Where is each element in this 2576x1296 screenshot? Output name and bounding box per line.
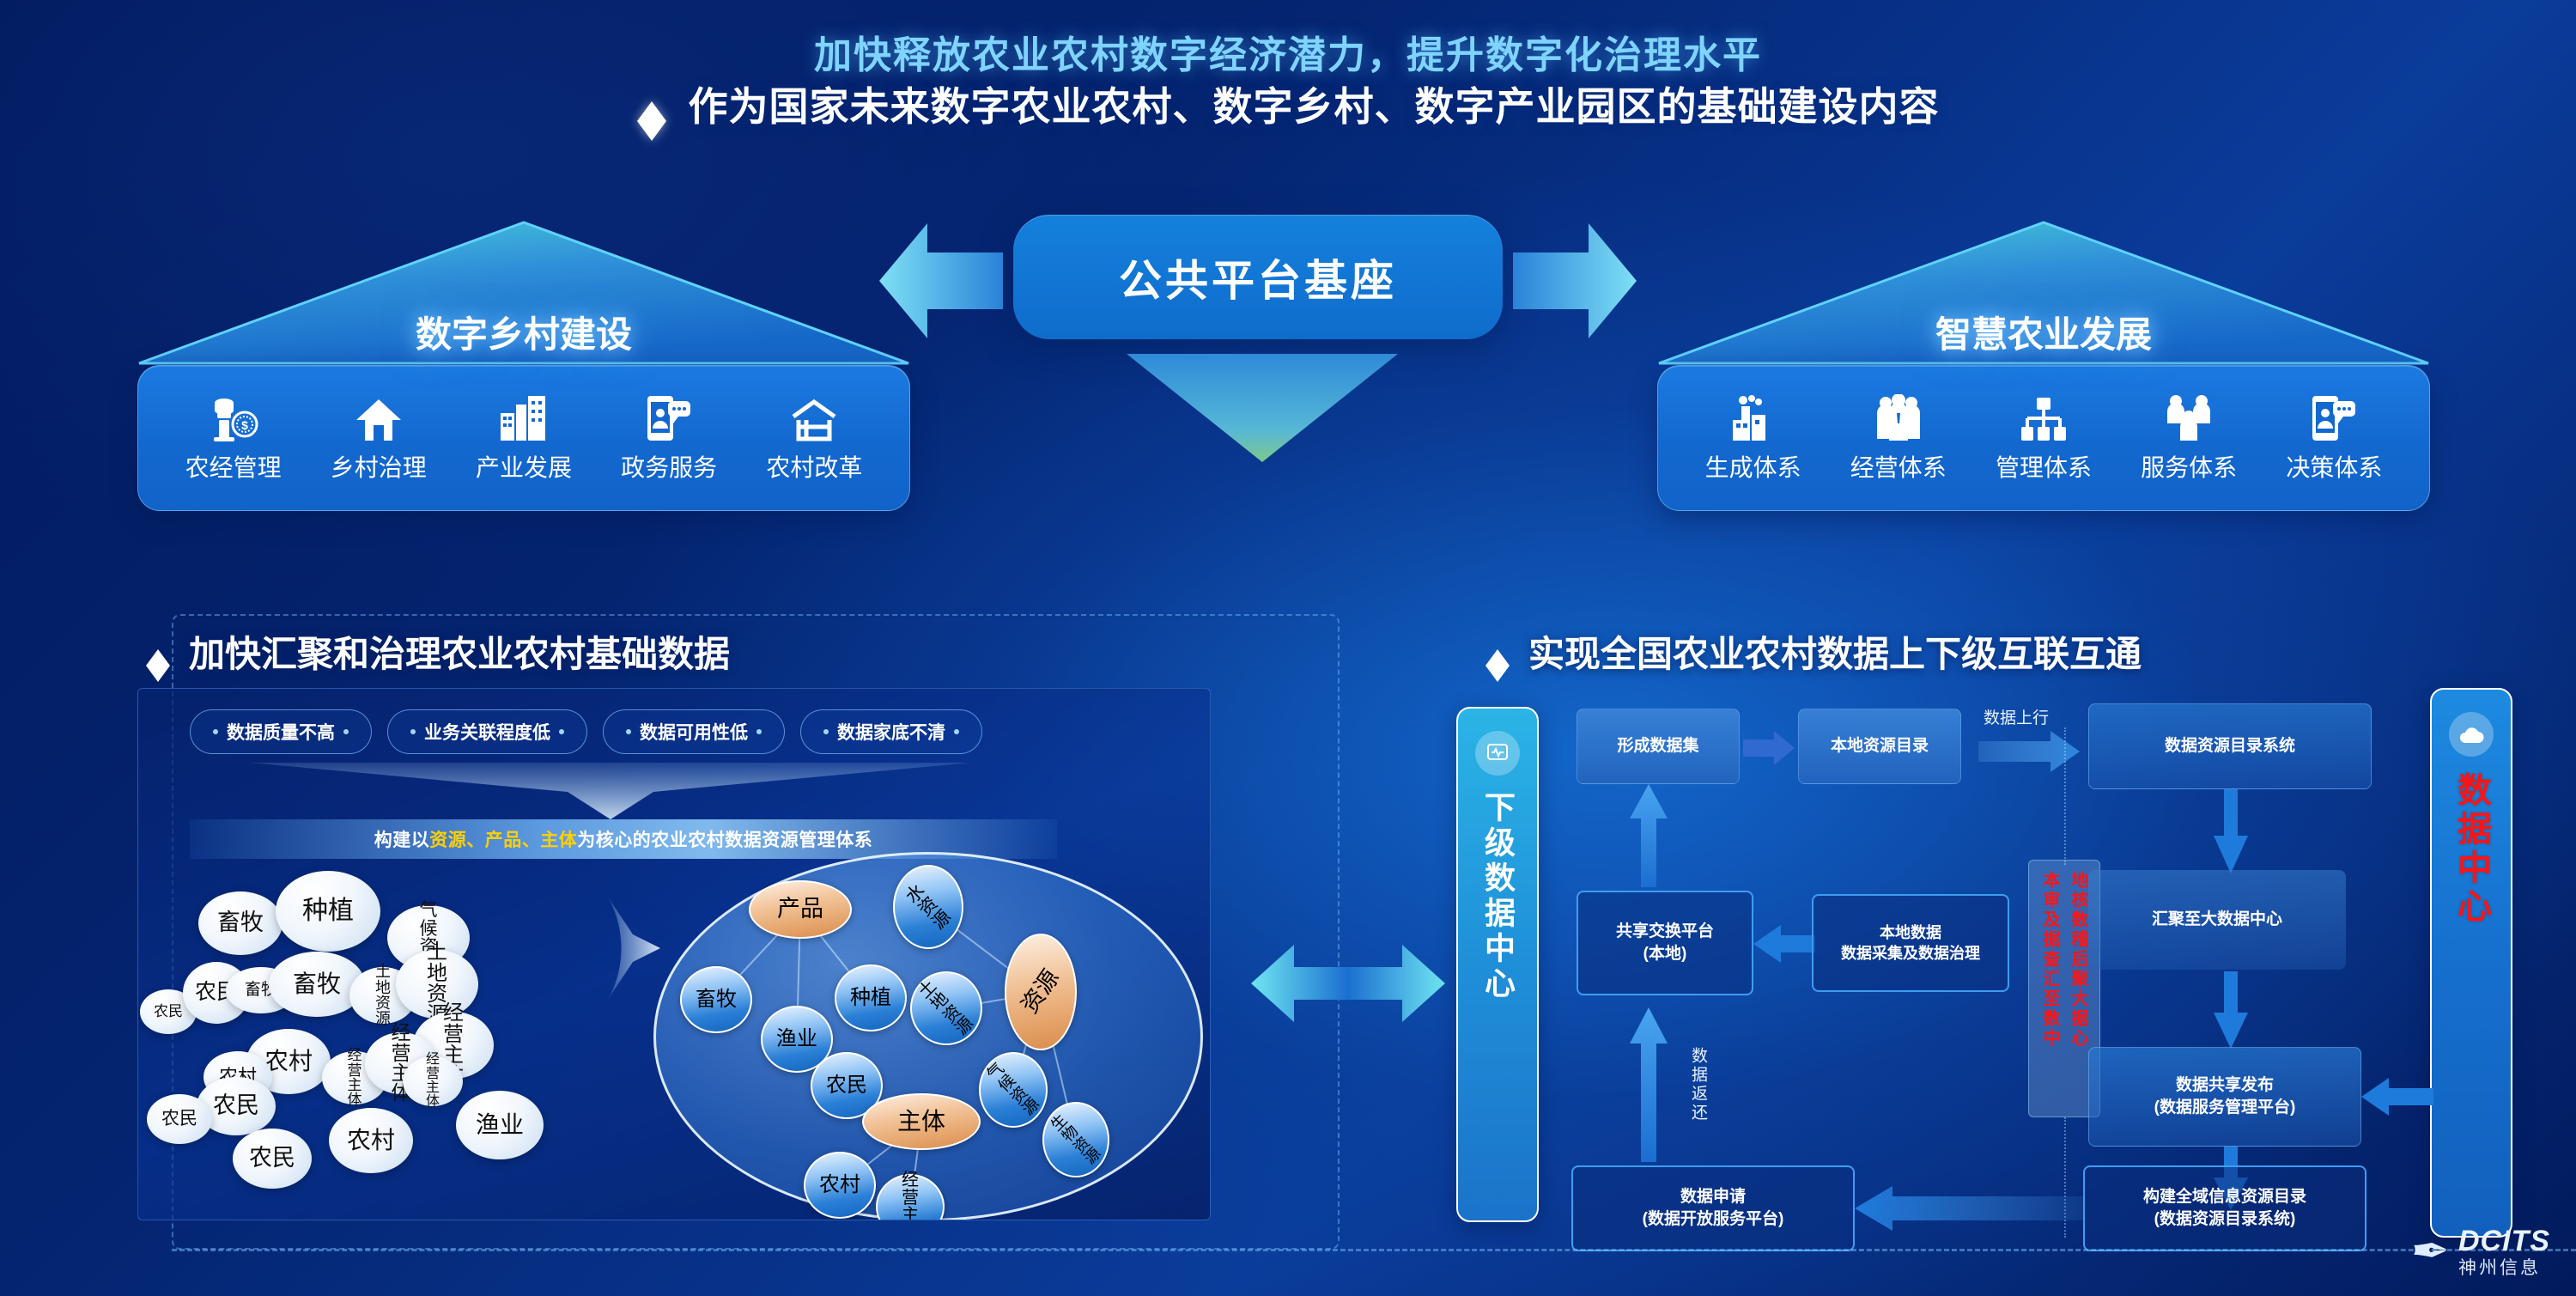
box-form-dataset[interactable]: 形成数据集 [1577,709,1740,784]
cloud-bubble-label: 农村 [264,1050,313,1074]
cloud-bubble-label: 渔业 [476,1113,524,1138]
data-node: 气候资源 [979,1052,1048,1128]
cloud-bubble: 农民 [233,1129,312,1189]
diamond-bullet-icon [146,637,170,666]
cloud-bubble-label: 经营主体 [348,1048,362,1107]
data-node: 生物资源 [1042,1102,1109,1177]
issue-chip[interactable]: 数据家底不清 [800,709,982,754]
factory-icon [1729,392,1777,442]
issue-chip[interactable]: 数据可用性低 [603,709,785,754]
feature-label: 生成体系 [1705,449,1801,484]
node-label: 主体 [897,1110,945,1135]
logo-words: DCITS 神州信息 [2458,1225,2550,1279]
chip-label: 数据质量不高 [227,719,335,745]
banner-highlight: 资源、产品、主体 [429,826,577,852]
label-upstream: 数据上行 [1984,705,2049,728]
feature-shengcheng-tixi[interactable]: 生成体系 [1685,392,1822,484]
bullet-dot-icon [756,729,762,734]
banner-prefix: 构建以 [374,826,430,852]
node-label: 土地资源 [915,977,977,1039]
feature-jingying-tixi[interactable]: 经营体系 [1830,392,1967,484]
arrow-up-return-icon [1628,1007,1669,1162]
node-label: 农村 [819,1175,860,1196]
diamond-bullet-icon [1485,637,1510,666]
arrow-left-long-icon [1855,1184,2085,1232]
feature-label: 管理体系 [1996,449,2092,484]
box-label-line2: (数据资源目录系统) [2154,1208,2296,1231]
feature-chanye-fazhan[interactable]: 产业发展 [455,392,592,484]
lower-data-center-bar[interactable]: 下级数据中心 [1456,707,1539,1222]
box-label: 本地资源目录 [1831,735,1929,758]
bullet-dot-icon [213,729,218,734]
feature-guanli-tixi[interactable]: 管理体系 [1975,392,2112,484]
upper-data-center-label: 数据中心 [2446,772,2496,927]
feature-xiangcun-zhili[interactable]: 乡村治理 [310,392,447,484]
feature-label: 决策体系 [2286,449,2382,484]
arrow-down-icon [1125,352,1400,464]
bottom-dashed-line [172,1249,2576,1251]
chip-label: 业务关联程度低 [424,719,550,745]
issue-chip[interactable]: 业务关联程度低 [387,709,587,754]
data-node: 土地资源 [910,971,982,1045]
panel-data-governance: 加快汇聚和治理农业农村基础数据 数据质量不高 业务关联程度低 数据可用性低 [112,614,1228,1220]
feature-label: 产业发展 [476,449,572,484]
node-label: 畜牧 [696,989,737,1010]
panel-right-title: 实现全国农业农村数据上下级互联互通 [1528,625,2142,678]
arrow-left-from-center-icon [2361,1076,2435,1117]
feature-nongcun-gaige[interactable]: 农村改革 [745,392,883,484]
node-label: 种植 [850,988,891,1008]
box-label-line2: (数据开放服务平台) [1643,1208,1784,1231]
bidirectional-arrow-icon [1249,936,1447,1031]
box-data-request[interactable]: 数据申请 (数据开放服务平台) [1571,1165,1855,1251]
feature-label: 服务体系 [2141,449,2237,484]
cloud-icon [2449,712,2494,757]
bottom-zone: 加快汇聚和治理农业农村基础数据 数据质量不高 业务关联程度低 数据可用性低 [0,614,2576,1296]
node-label: 产品 [777,897,823,922]
bullet-dot-icon [823,729,829,734]
cloud-bubble: 畜牧 [269,952,365,1017]
issue-chip-list: 数据质量不高 业务关联程度低 数据可用性低 数据家底不清 [190,709,982,754]
arrow-down-small-icon [2212,971,2250,1049]
house-smart-agriculture: 智慧农业发展 生成体系 [1657,219,2430,511]
logo-cn: 神州信息 [2458,1258,2550,1279]
data-node: 畜牧 [680,966,752,1033]
roof-left: 数字乡村建设 [137,219,910,365]
house-icon [355,392,403,442]
page-title: 加快释放农业农村数字经济潜力，提升数字化治理水平 [0,24,2576,79]
core-node: 资源 [1005,934,1077,1050]
platform-base-pill[interactable]: 公共平台基座 [1013,215,1503,339]
cloud-bubble-label: 土地资源 [375,964,391,1026]
feature-nongjing-guanli[interactable]: $ 农经管理 [165,392,302,484]
box-global-catalog[interactable]: 构建全域信息资源目录 (数据资源目录系统) [2083,1165,2366,1251]
buildings-icon [499,392,549,442]
box-local-data[interactable]: 本地数据 数据采集及数据治理 [1812,894,2009,992]
panel-left-content: 数据质量不高 业务关联程度低 数据可用性低 数据家底不清 [137,688,1211,1220]
org-chart-icon [2020,392,2068,442]
cloud-bubble-label: 种植 [302,898,354,925]
bullet-dot-icon [559,729,564,734]
label-data-return: 数据返还 [1686,1047,1710,1123]
box-label-line1: 共享交换平台 [1616,921,1714,943]
dotted-divider [2064,727,2066,865]
arrow-up-icon [1628,784,1669,887]
house-left-card: $ 农经管理 乡村治理 [137,365,910,511]
farm-house-icon [789,392,839,442]
transform-arrow-icon [602,888,662,1008]
mobile-decision-icon [2311,392,2357,442]
panel-data-interconnection: 实现全国农业农村数据上下级互联互通 下级数据中心 数据中心 [1451,614,2524,688]
upper-data-center-bar[interactable]: 数据中心 [2430,688,2512,1238]
house-right-title: 智慧农业发展 [1935,306,2152,358]
node-label: 资源 [1018,966,1064,1018]
people-group-icon [1874,392,1923,442]
node-label: 生物资源 [1048,1112,1104,1168]
node-label: 渔业 [776,1029,817,1050]
box-local-catalog[interactable]: 本地资源目录 [1798,709,1961,784]
coin-stack-icon: $ [209,392,258,442]
box-label: 汇聚至大数据中心 [2152,909,2282,931]
box-label-line1: 数据申请 [1680,1186,1746,1208]
banner-suffix: 为核心的农业农村数据资源管理体系 [577,826,872,852]
feature-juece-tixi[interactable]: 决策体系 [2265,392,2403,484]
feature-label: 农经管理 [185,449,282,484]
box-label-line2: 数据采集及数据治理 [1841,943,1980,964]
box-share-platform[interactable]: 共享交换平台 (本地) [1577,891,1753,995]
bullet-dot-icon [343,729,349,734]
arrow-left-icon [876,216,1005,345]
arrow-upstream-icon [1978,729,2081,774]
arrow-down-small-icon [2212,789,2250,873]
box-label-line1: 构建全域信息资源目录 [2143,1186,2306,1208]
box-label: 形成数据集 [1617,735,1698,758]
cloud-bubble-label: 畜牧 [293,972,341,997]
cloud-bubble: 农村 [329,1108,413,1173]
cloud-bubble: 土地资源 [396,950,478,1019]
bullet-dot-icon [626,729,631,734]
red-note-col2: 地核数稽后聚大据心 [2066,871,2091,1106]
cloud-bubble: 农民 [147,1094,212,1144]
node-label: 气候资源 [984,1061,1042,1119]
chip-label: 数据家底不清 [837,719,945,745]
panel-right-title-row: 实现全国农业农村数据上下级互联互通 [1451,614,2524,688]
cloud-bubble-label: 农民 [161,1110,197,1128]
cloud-bubble: 种植 [276,871,380,952]
feature-fuwu-tixi[interactable]: 服务体系 [2120,392,2257,484]
page-subtitle: 作为国家未来数字农业农村、数字乡村、数字产业园区的基础建设内容 [689,76,1940,132]
bullet-dot-icon [954,729,959,734]
box-label-line1: 数据共享发布 [2176,1074,2274,1097]
cloud-bubble-label: 农村 [347,1129,395,1153]
service-people-icon [2165,392,2213,442]
node-label: 农民 [826,1075,867,1096]
house-digital-village: 数字乡村建设 $ 农经管理 [137,219,910,511]
roof-right: 智慧农业发展 [1657,219,2430,365]
feature-zhengwu-fuwu[interactable]: 政务服务 [600,392,738,484]
cloud-bubble-label: 经营主体 [426,1053,440,1109]
data-flow-diagram: 下级数据中心 数据中心 形成数据集 本地资源目录 数据上 [1451,688,2524,1255]
cloud-bubble-label: 农民 [213,1094,259,1118]
core-node: 产品 [749,880,852,939]
box-catalog-system[interactable]: 数据资源目录系统 [2088,703,2372,789]
red-note-col1: 本审及据查汇至数中 [2038,871,2063,1106]
monitor-pulse-icon [1475,731,1520,776]
structured-data-ellipse: 产品水资源资源畜牧种植土地资源渔业农民气候资源生物资源主体农村经营主体 [653,852,1203,1220]
feature-label: 农村改革 [766,449,862,484]
cloud-bubble: 经营主体 [403,1056,463,1106]
issue-chip[interactable]: 数据质量不高 [190,709,372,754]
logo-mark-icon: ✒ [2411,1228,2450,1275]
feature-label: 政务服务 [621,449,717,484]
box-label-line1: 本地数据 [1880,922,1941,943]
node-label: 水资源 [902,881,954,933]
arrow-right-small-icon [1743,729,1796,767]
arrow-right-icon [1511,216,1640,345]
cloud-bubble: 渔业 [456,1091,544,1159]
box-share-publish[interactable]: 数据共享发布 (数据服务管理平台) [2088,1047,2361,1147]
top-architecture-diagram: 数字乡村建设 $ 农经管理 [0,146,2576,610]
subtitle-row: 作为国家未来数字农业农村、数字乡村、数字产业园区的基础建设内容 [0,76,2576,132]
data-node: 水资源 [893,865,963,949]
svg-text:$: $ [241,418,248,432]
house-right-card: 生成体系 经营体系 [1657,365,2430,511]
bullet-dot-icon [410,729,416,734]
unstructured-bubble-cloud: 农民农民畜牧种植气候资源畜牧畜牧土地资源土地资源经营主体农村农村经营主体经营主体… [138,861,602,1220]
cloud-bubble-label: 农民 [154,1004,183,1019]
house-left-title: 数字乡村建设 [416,306,632,358]
feature-label: 乡村治理 [331,449,427,484]
funnel-arrow-icon [250,763,971,823]
arrow-left-small-icon [1753,923,1817,964]
cloud-bubble-label: 农民 [249,1147,295,1171]
core-node: 主体 [862,1093,981,1150]
cloud-bubble: 畜牧 [198,891,283,955]
box-aggregate-center[interactable]: 汇聚至大数据中心 [2088,870,2346,970]
box-label: 数据资源目录系统 [2165,735,2295,758]
diamond-bullet-icon [637,87,666,121]
cloud-bubble-label: 畜牧 [217,911,264,935]
data-node: 种植 [835,964,907,1031]
data-node: 经营主体 [876,1174,945,1220]
lower-data-center-label: 下级数据中心 [1475,791,1520,1002]
brand-logo: ✒ DCITS 神州信息 [2411,1225,2550,1279]
chip-label: 数据可用性低 [640,719,748,745]
box-label-line2: (数据服务管理平台) [2154,1097,2296,1119]
mobile-service-icon [646,392,692,442]
box-label-line2: (本地) [1643,943,1687,965]
logo-en: DCITS [2458,1225,2550,1258]
data-node: 农村 [804,1152,876,1219]
feature-label: 经营体系 [1850,449,1947,484]
node-label: 经营主体 [902,1171,919,1220]
